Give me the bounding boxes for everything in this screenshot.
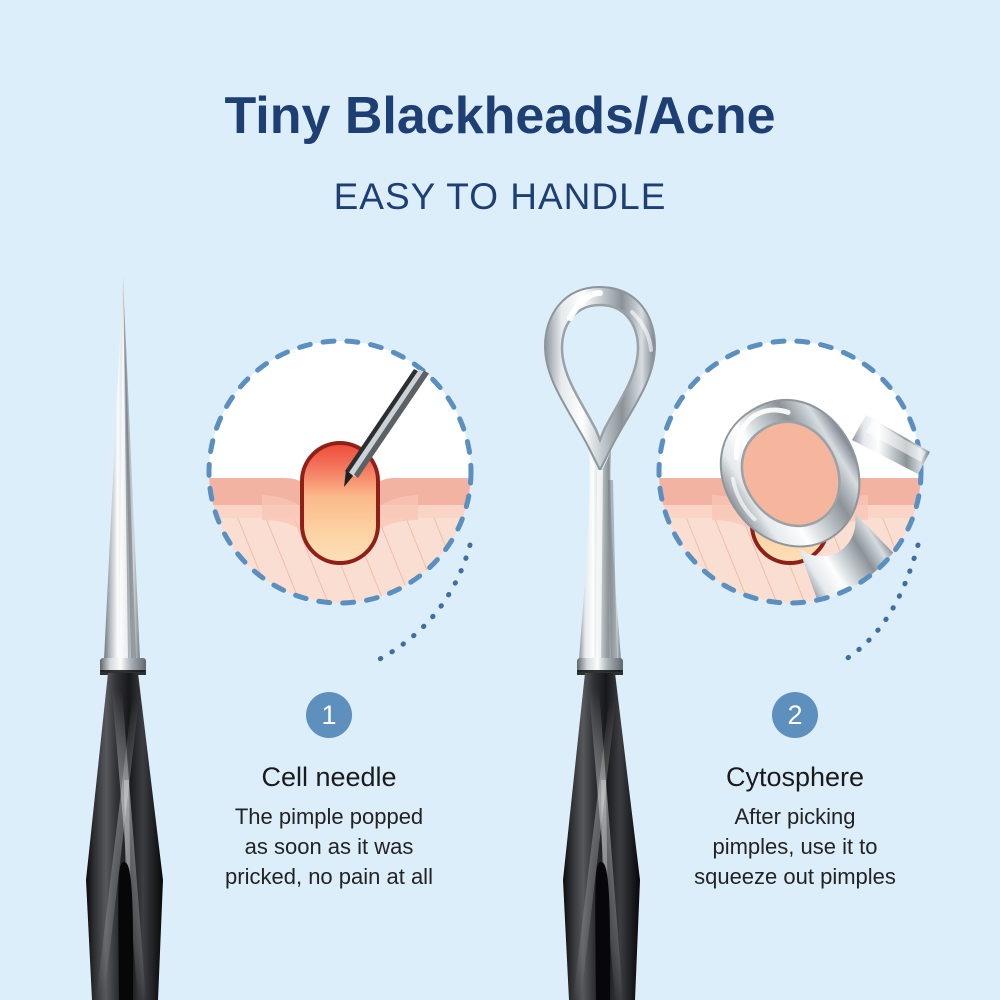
- step-1-desc-line-1: The pimple popped: [159, 802, 499, 832]
- loop-tool: [545, 287, 655, 1000]
- step-caption-1: Cell needle The pimple popped as soon as…: [159, 762, 499, 892]
- scene-1-needle-piercing-pimple: [200, 330, 490, 625]
- needle-handle-fork-slot: [118, 862, 133, 1000]
- step-2-desc-line-3: squeeze out pimples: [645, 862, 945, 892]
- step-2-title: Cytosphere: [645, 762, 945, 793]
- step-2-desc-line-2: pimples, use it to: [645, 832, 945, 862]
- step-badge-2: 2: [772, 692, 818, 738]
- step-badge-1: 1: [306, 692, 352, 738]
- scene-2-loop-extracting-pimple: [650, 330, 940, 625]
- loop-ferrule: [577, 658, 623, 672]
- step-2-desc-line-1: After picking: [645, 802, 945, 832]
- product-infographic: Tiny Blackheads/Acne EASY TO HANDLE: [0, 0, 1000, 1000]
- step-1-desc-line-2: as soon as it was: [159, 832, 499, 862]
- step-1-title: Cell needle: [159, 762, 499, 793]
- needle-tool: [86, 276, 163, 1000]
- loop-handle-fork-slot: [595, 862, 610, 1000]
- needle-ferrule: [100, 658, 146, 672]
- step-1-desc-line-3: pricked, no pain at all: [159, 862, 499, 892]
- step-caption-2: Cytosphere After picking pimples, use it…: [645, 762, 945, 892]
